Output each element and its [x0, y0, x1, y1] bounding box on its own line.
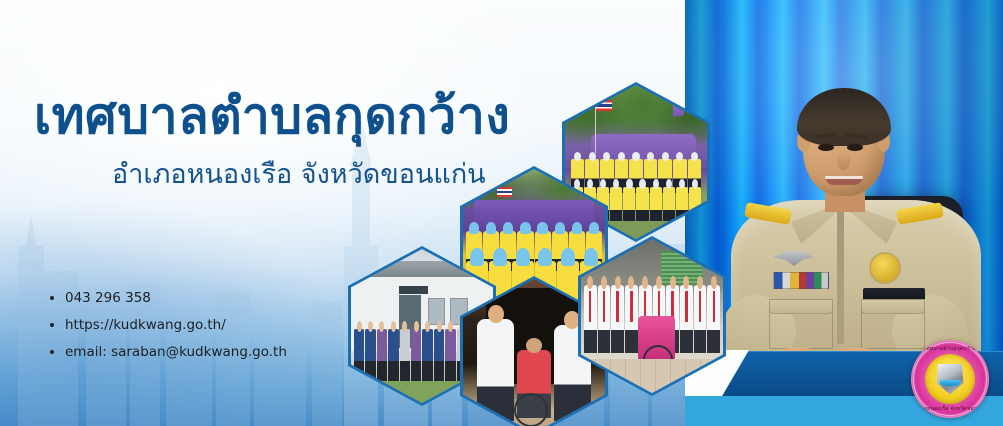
hair — [797, 88, 891, 146]
thai-flag-icon — [497, 187, 512, 197]
seal-bottom-text: อำเภอหนองเรือ จังหวัดขอนแก่น — [911, 405, 989, 413]
page-title: เทศบาลตำบลกุดกว้าง — [34, 88, 510, 144]
building-sign — [399, 286, 427, 294]
pocket-left — [769, 300, 833, 349]
contact-phone: 043 296 358 — [65, 290, 151, 306]
wheelchair-wheel-icon — [514, 393, 548, 426]
list-item[interactable]: email: saraban@kudkwang.go.th — [48, 344, 287, 360]
contact-website[interactable]: https://kudkwang.go.th/ — [65, 317, 226, 333]
attendant-left — [477, 319, 514, 421]
contact-email[interactable]: email: saraban@kudkwang.go.th — [65, 344, 287, 360]
shirt-placket — [837, 204, 844, 344]
municipality-seal: เทศบาลตำบลกุดกว้าง อำเภอหนองเรือ จังหวัด… — [911, 340, 989, 418]
eye-right — [847, 144, 863, 151]
nose — [837, 152, 850, 170]
contact-list: 043 296 358 https://kudkwang.go.th/ emai… — [48, 290, 287, 371]
ribbon-bar — [773, 272, 829, 289]
building-window — [428, 298, 446, 325]
purple-flag-icon — [673, 91, 684, 117]
municipality-banner: เทศบาลตำบลกุดกว้าง อำเภอหนองเรือ จังหวัด… — [0, 0, 1003, 426]
gold-badge-icon — [871, 254, 899, 282]
list-item[interactable]: https://kudkwang.go.th/ — [48, 317, 287, 333]
page-subtitle: อำเภอหนองเรือ จังหวัดขอนแก่น — [112, 158, 486, 192]
pocket-right — [861, 300, 925, 349]
list-item: 043 296 358 — [48, 290, 287, 306]
eye-left — [818, 144, 834, 151]
thai-flag-icon — [596, 100, 612, 111]
seal-top-text: เทศบาลตำบลกุดกว้าง — [911, 345, 989, 353]
mouth — [825, 176, 863, 185]
